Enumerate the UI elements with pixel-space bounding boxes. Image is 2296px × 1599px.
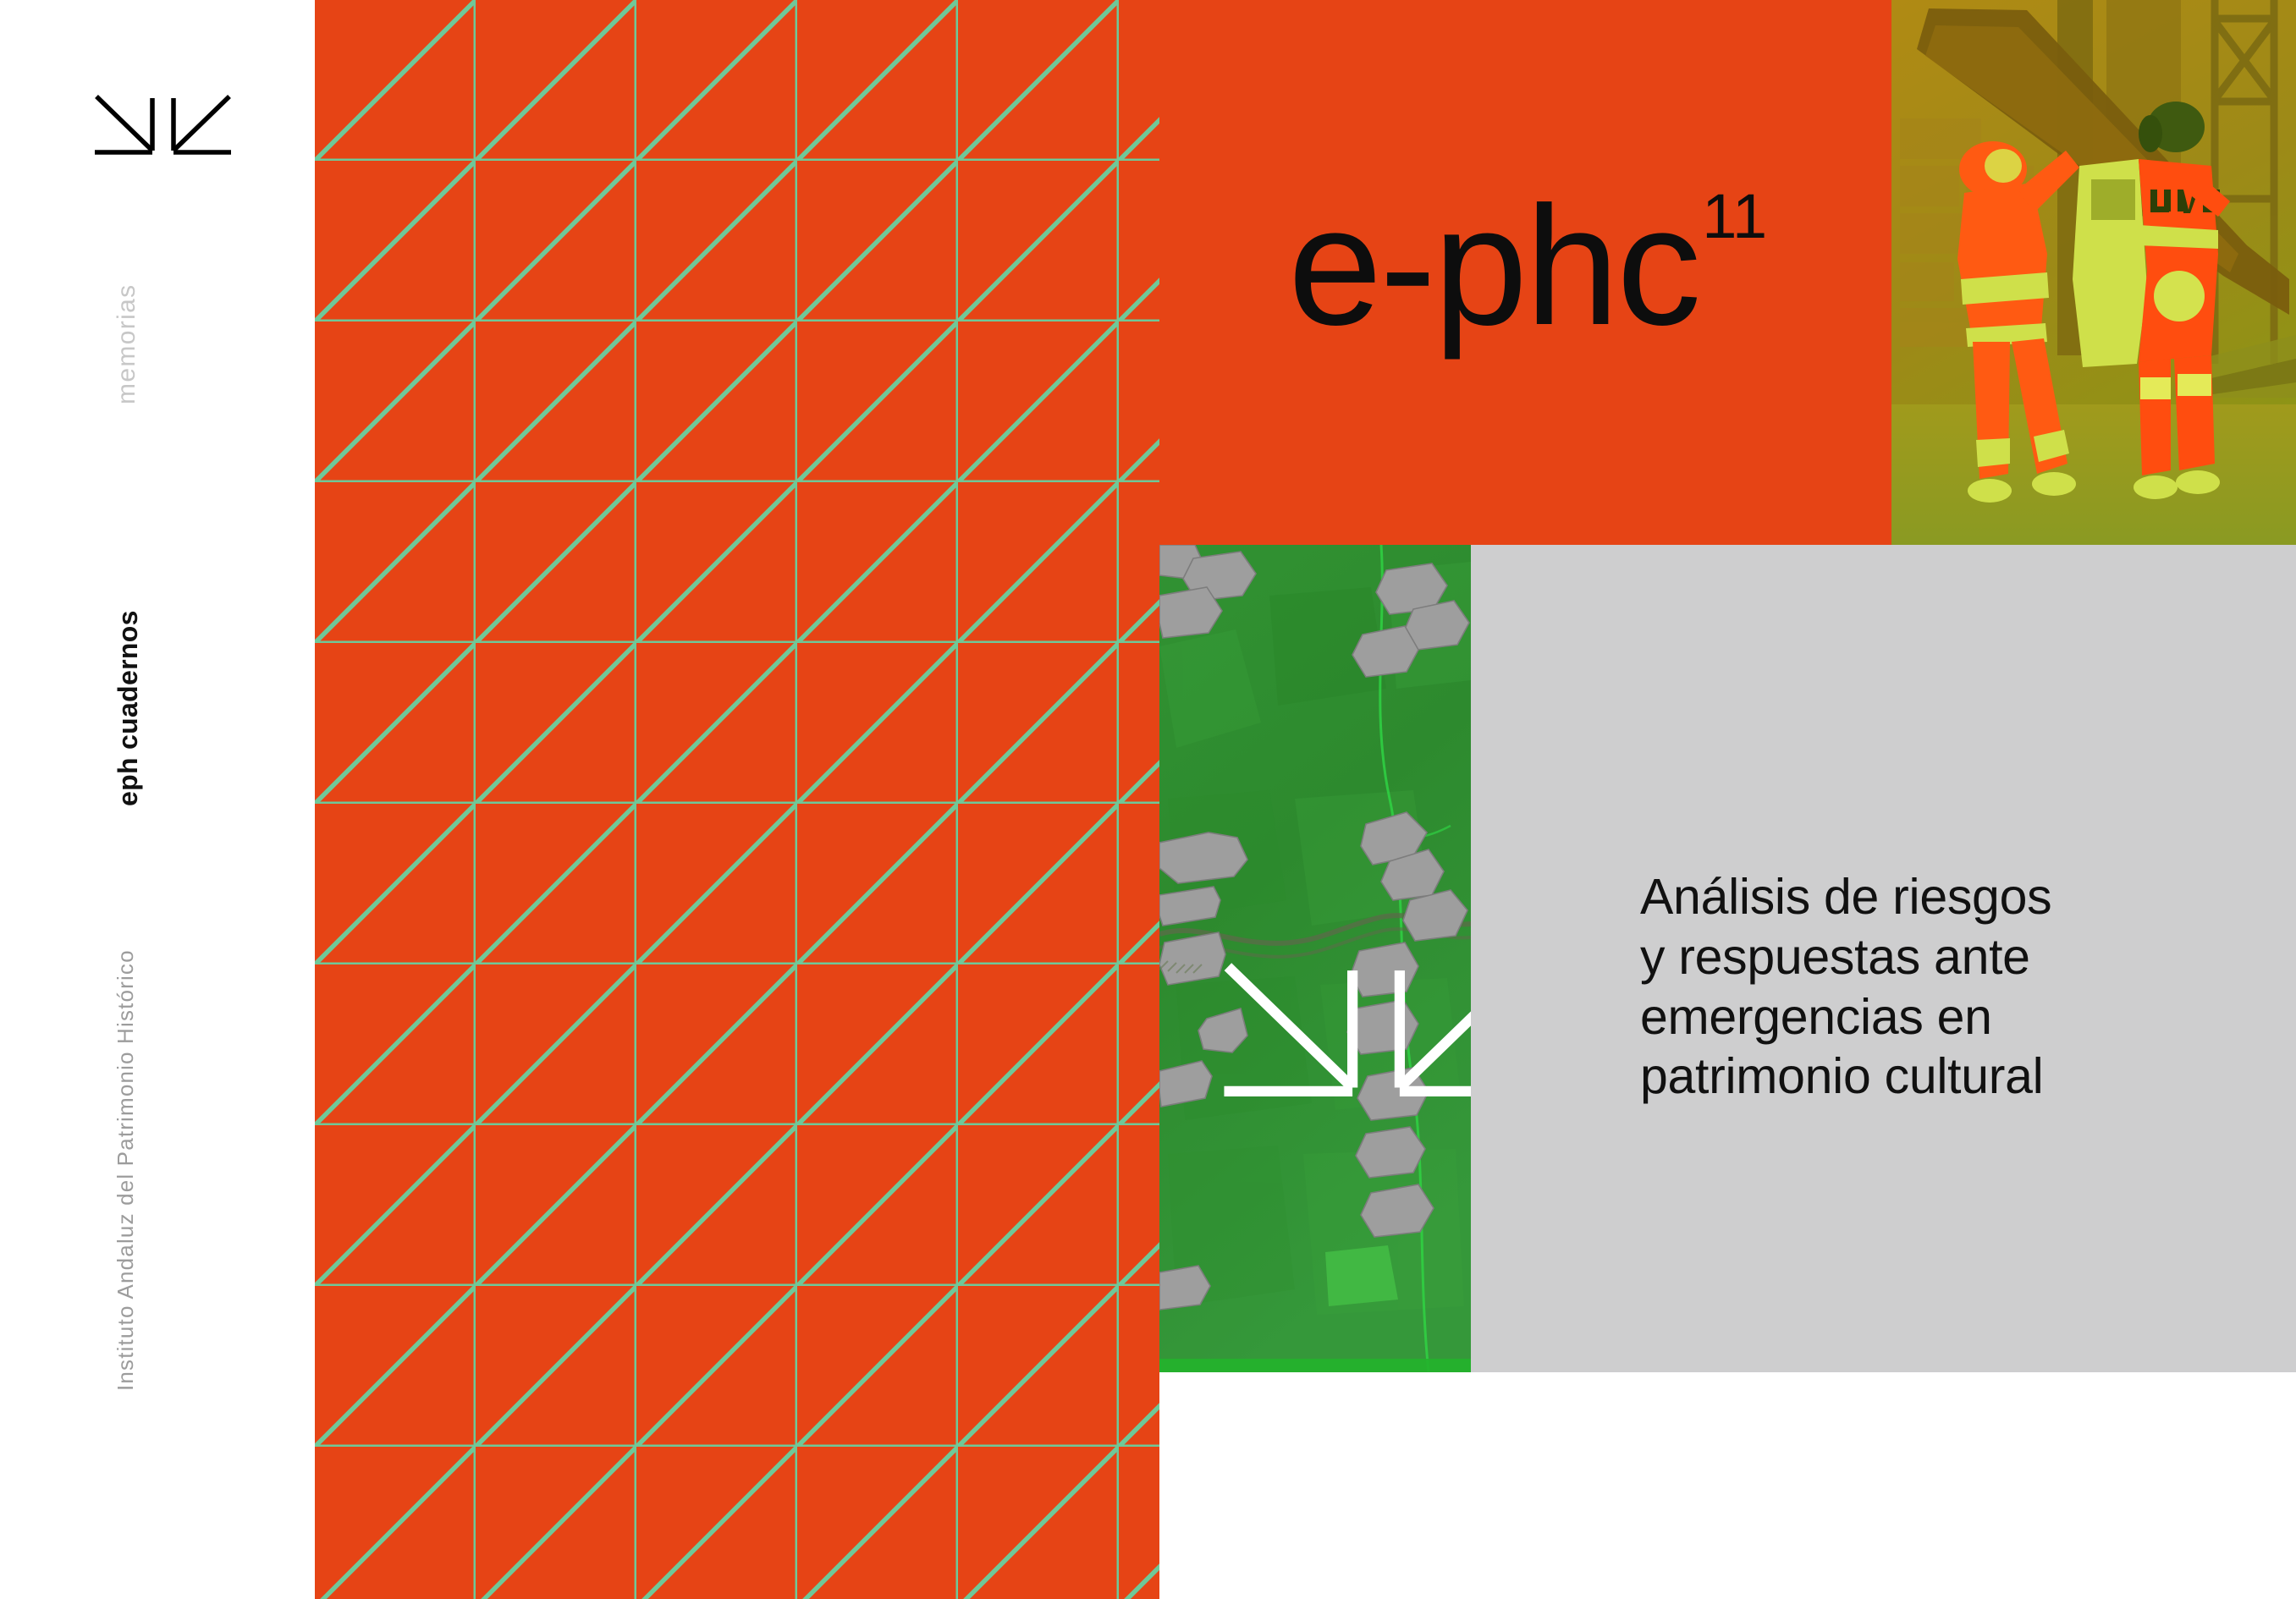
book-title-block: Análisis de riesgos y respuestas ante em… [1471, 545, 2296, 1372]
book-cover-spread: memorias eph cuadernos Instituto Andaluz… [0, 0, 2296, 1599]
spine-label-memorias: memorias [113, 284, 141, 405]
aerial-satellite-map [1159, 545, 1471, 1372]
spine-label-institute: Instituto Andaluz del Patrimonio Históri… [113, 949, 139, 1391]
spine-label-column: memorias eph cuadernos Instituto Andaluz… [0, 0, 315, 1599]
converging-arrows-icon [93, 93, 233, 161]
front-cover-panel: e-phc11 [1159, 0, 2296, 1599]
emergency-workers-duotone-photo [1891, 0, 2296, 545]
book-title-line: Análisis de riesgos [1640, 867, 2283, 927]
book-title: Análisis de riesgos y respuestas ante em… [1640, 867, 2283, 1107]
book-title-line: y respuestas ante [1640, 927, 2283, 987]
issue-number: 11 [1702, 181, 1767, 251]
converging-arrows-icon [1220, 621, 1471, 1372]
series-title: e-phc11 [1288, 182, 1764, 351]
series-title-text: e-phc [1288, 172, 1699, 360]
duotone-photo-svg [1891, 0, 2296, 545]
back-cover-panel: memorias eph cuadernos Instituto Andaluz… [0, 0, 1159, 1599]
book-title-line: emergencias en [1640, 987, 2283, 1047]
triangle-grid-pattern [315, 0, 1159, 1599]
series-title-block: e-phc11 [1159, 0, 1891, 545]
book-title-line: patrimonio cultural [1640, 1047, 2283, 1107]
triangle-grid-svg [315, 0, 1159, 1599]
spine-label-collection: eph cuadernos [113, 610, 144, 806]
